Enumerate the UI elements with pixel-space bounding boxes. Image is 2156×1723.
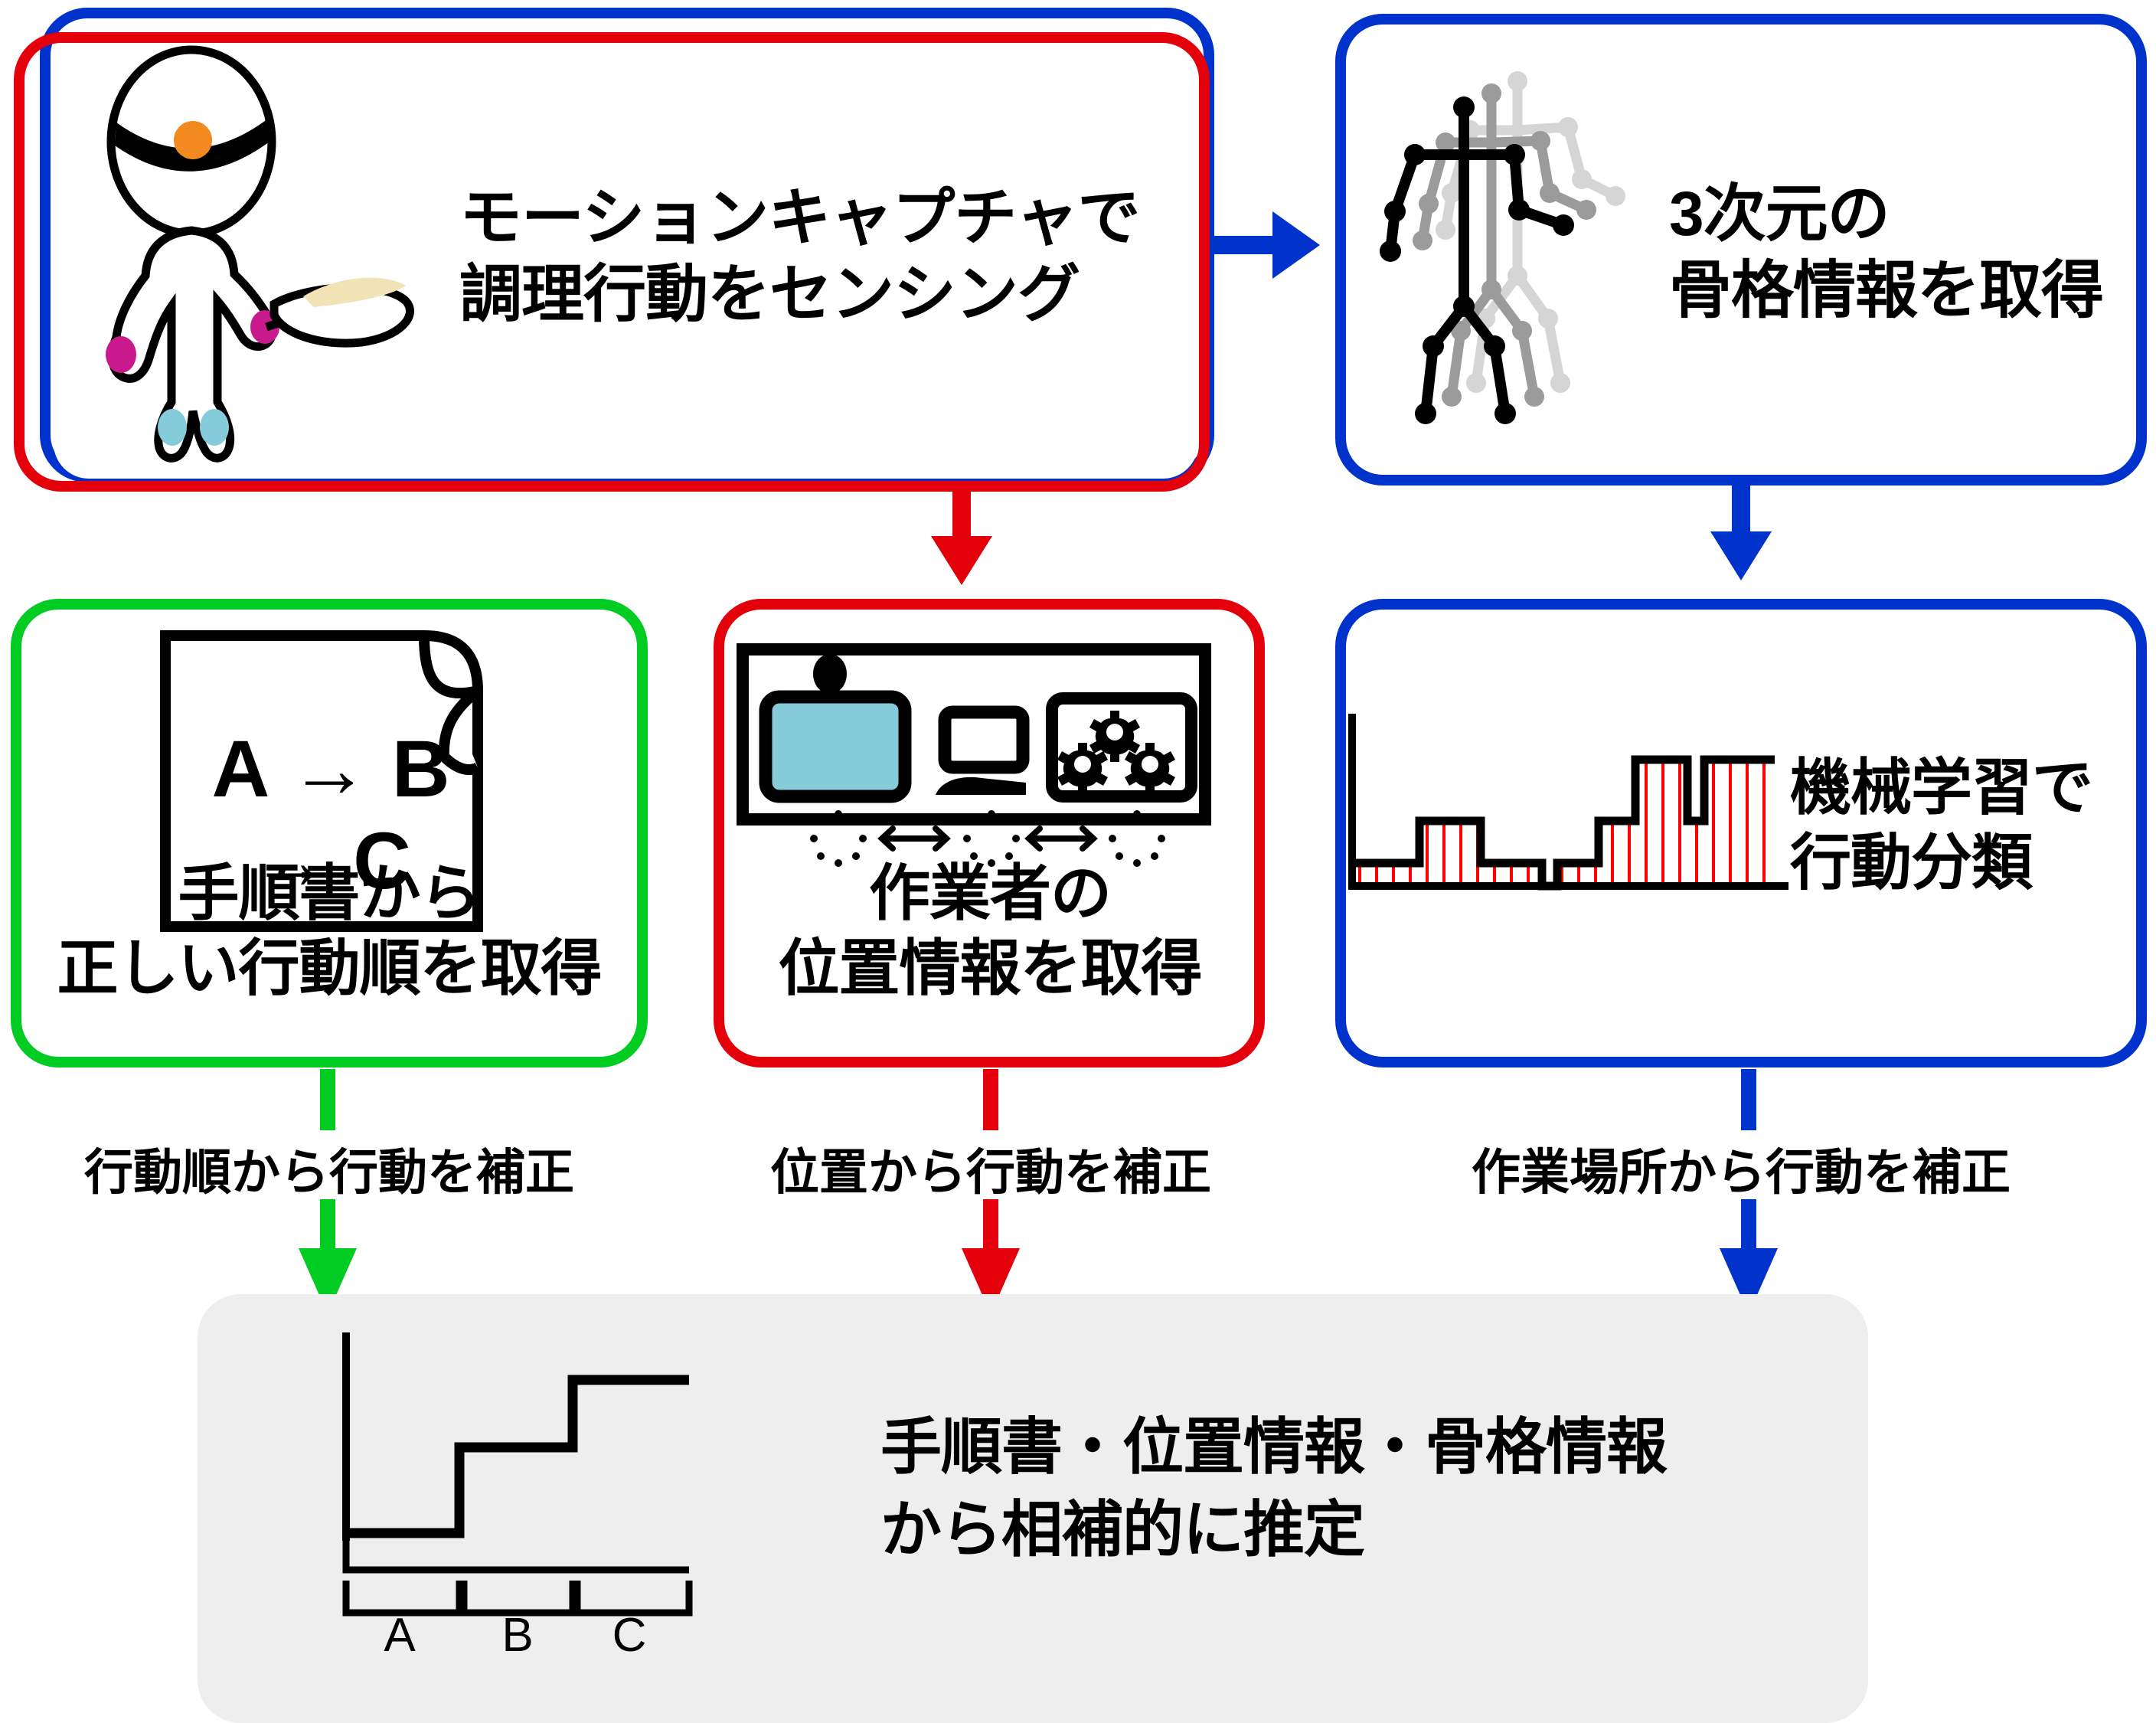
- diagram-canvas: モーションキャプチャで 調理行動をセンシング: [0, 0, 2156, 1648]
- correction-label-workplace: 作業場所から行動を補正: [1370, 1133, 2112, 1204]
- connector-procedure-stem-upper: [320, 1069, 335, 1130]
- connector-position-stem-upper: [983, 1069, 998, 1130]
- result-axis-label-b: B: [464, 1608, 571, 1663]
- result-axis-label-a: A: [346, 1608, 453, 1663]
- arrow-mocap-to-skeleton-head: [1272, 211, 1320, 279]
- arrow-mocap-to-position-head: [931, 536, 992, 585]
- correction-label-order: 行動順から行動を補正: [8, 1133, 651, 1204]
- ml-classification-step-chart: [1329, 714, 1804, 920]
- motion-capture-person-illustration: [77, 42, 521, 471]
- skeleton-label: 3次元の 骨格情報を取得: [1669, 176, 2128, 329]
- connector-ml-stem-upper: [1741, 1069, 1756, 1130]
- motion-capture-label: モーションキャプチャで 調理行動をセンシング: [459, 180, 1194, 333]
- complementary-estimation-step-plot: [329, 1326, 789, 1648]
- result-axis-label-c: C: [576, 1608, 683, 1663]
- correction-label-location: 位置から行動を補正: [715, 1133, 1266, 1204]
- result-panel-label: 手順書・位置情報・骨格情報 から相補的に推定: [880, 1406, 1799, 1571]
- arrow-skeleton-to-ml-head: [1710, 531, 1772, 580]
- procedure-label: 手順書から 正しい行動順を取得: [15, 856, 643, 1005]
- position-workstation-icon: [737, 645, 1211, 875]
- machine-learning-label: 機械学習で 行動分類: [1790, 750, 2150, 900]
- position-label: 作業者の 位置情報を取得: [720, 856, 1260, 1005]
- skeleton-illustration: [1378, 46, 1700, 444]
